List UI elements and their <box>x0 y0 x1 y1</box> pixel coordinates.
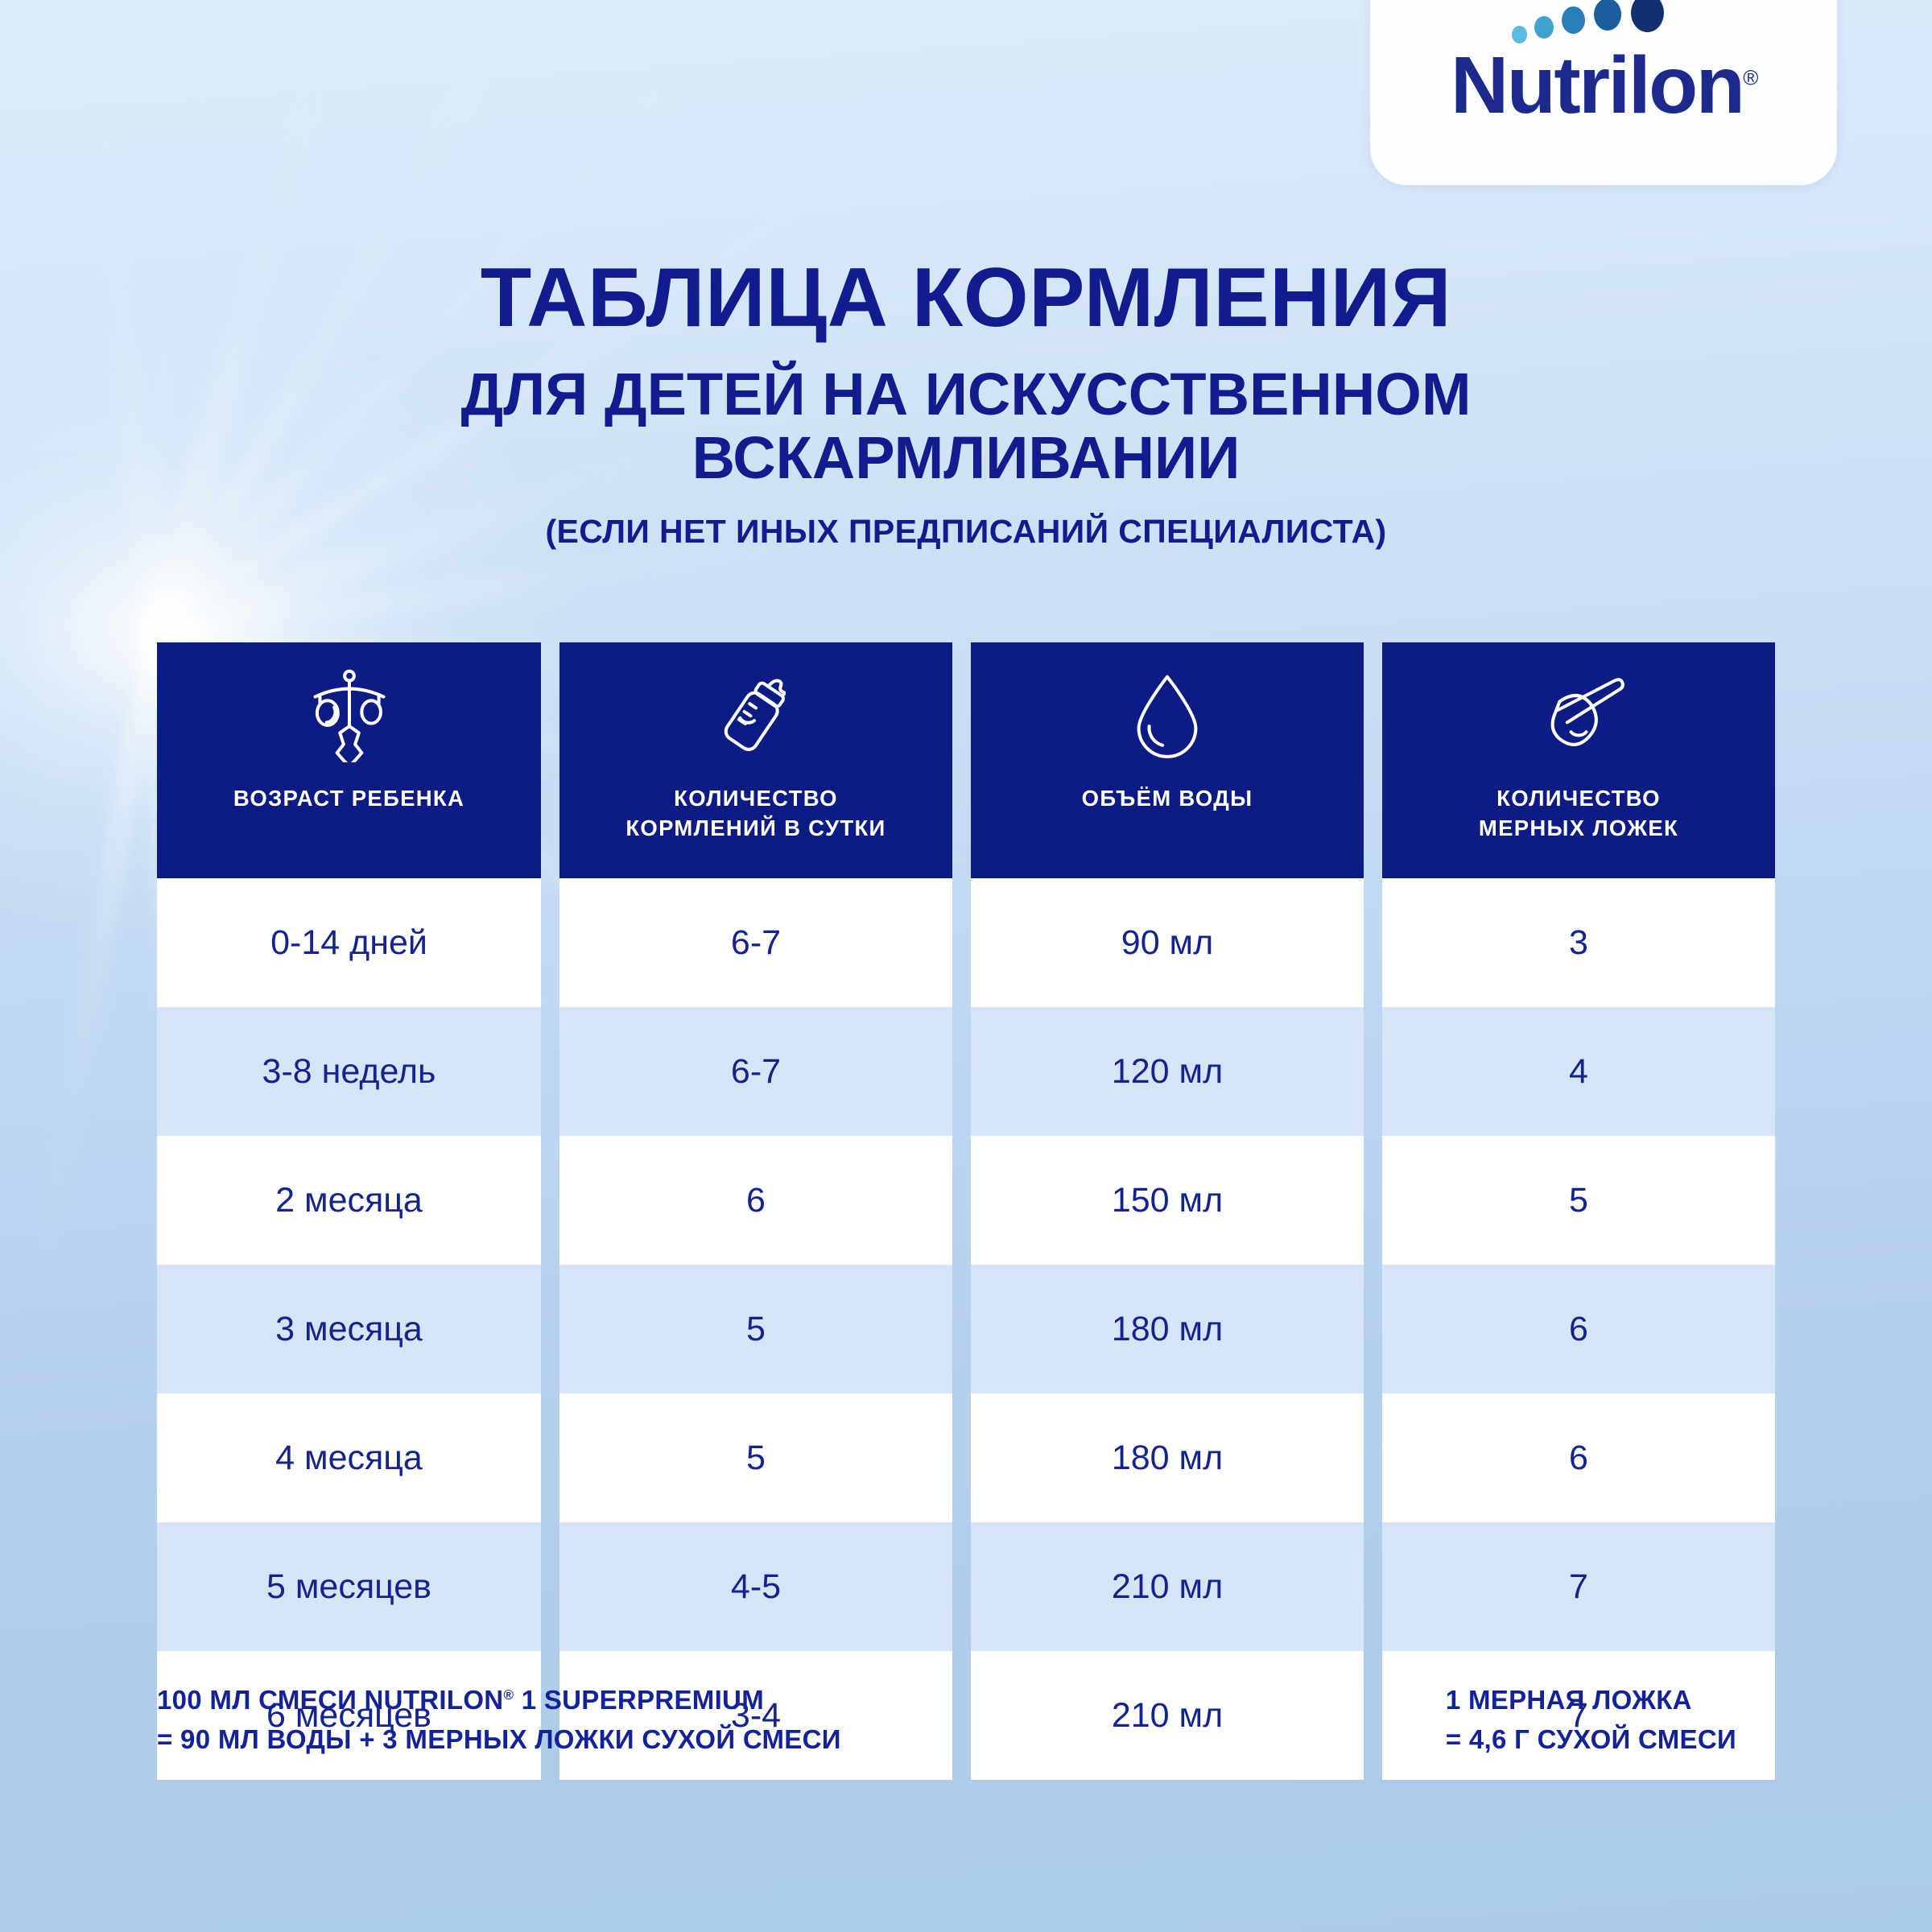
table-cell-age: 3 месяца <box>157 1265 541 1393</box>
column-gap <box>541 1393 559 1522</box>
table-cell-age: 4 месяца <box>157 1393 541 1522</box>
table-cell-age: 3-8 недель <box>157 1007 541 1136</box>
page-title: ТАБЛИЦА КОРМЛЕНИЯ <box>0 254 1932 341</box>
column-gap <box>1364 1265 1382 1393</box>
table-header-row: ВОЗРАСТ РЕБЕНКА КОЛИЧЕСТВОКОРМЛЕНИЙ В СУ… <box>157 642 1775 878</box>
header-label-line: ОБЪЁМ ВОДЫ <box>1082 784 1253 814</box>
table-cell-water: 90 мл <box>971 878 1364 1007</box>
table-cell-scoops: 6 <box>1382 1393 1775 1522</box>
column-gap <box>952 1265 971 1393</box>
brand-logo-card: Nutrilon® <box>1370 0 1837 185</box>
footer-note-right: 1 МЕРНАЯ ЛОЖКА = 4,6 Г СУХОЙ СМЕСИ <box>1446 1681 1775 1760</box>
table-header-cell-3: ОБЪЁМ ВОДЫ <box>971 642 1364 878</box>
table-cell-feedings: 4-5 <box>559 1522 952 1651</box>
brand-dot-1 <box>1512 26 1527 43</box>
footer-right-line1: 1 МЕРНАЯ ЛОЖКА <box>1446 1681 1736 1720</box>
table-cell-feedings: 6-7 <box>559 878 952 1007</box>
brand-name: Nutrilon <box>1451 40 1743 130</box>
footer-notes: 100 МЛ СМЕСИ NUTRILON® 1 SUPERPREMIUM = … <box>157 1681 1775 1760</box>
footer-note-left: 100 МЛ СМЕСИ NUTRILON® 1 SUPERPREMIUM = … <box>157 1681 841 1760</box>
header-label-line: МЕРНЫХ ЛОЖЕК <box>1479 814 1678 844</box>
table-cell-scoops: 5 <box>1382 1136 1775 1265</box>
table-row: 3-8 недель6-7120 мл4 <box>157 1007 1775 1136</box>
column-gap <box>1364 1007 1382 1136</box>
table-cell-age: 5 месяцев <box>157 1522 541 1651</box>
table-cell-water: 120 мл <box>971 1007 1364 1136</box>
table-header-cell-4: КОЛИЧЕСТВОМЕРНЫХ ЛОЖЕК <box>1382 642 1775 878</box>
baby-bottle-icon <box>708 670 803 760</box>
table-cell-water: 210 мл <box>971 1522 1364 1651</box>
table-row: 5 месяцев4-5210 мл7 <box>157 1522 1775 1651</box>
footer-left-reg-mark: ® <box>503 1687 514 1703</box>
column-gap <box>1364 878 1382 1007</box>
header-label-line: КОЛИЧЕСТВО <box>625 784 885 814</box>
brand-dot-2 <box>1534 16 1554 39</box>
brand-dot-5 <box>1631 0 1664 32</box>
table-cell-feedings: 5 <box>559 1265 952 1393</box>
column-gap <box>1364 642 1382 878</box>
table-cell-feedings: 5 <box>559 1393 952 1522</box>
page-note: (ЕСЛИ НЕТ ИНЫХ ПРЕДПИСАНИЙ СПЕЦИАЛИСТА) <box>0 513 1932 551</box>
table-header-cell-2: КОЛИЧЕСТВОКОРМЛЕНИЙ В СУТКИ <box>559 642 952 878</box>
footer-left-line1: 100 МЛ СМЕСИ NUTRILON® 1 SUPERPREMIUM <box>157 1681 841 1720</box>
column-gap <box>1364 1136 1382 1265</box>
table-cell-water: 180 мл <box>971 1265 1364 1393</box>
table-cell-age: 2 месяца <box>157 1136 541 1265</box>
table-row: 2 месяца6150 мл5 <box>157 1136 1775 1265</box>
column-gap <box>952 1136 971 1265</box>
header-label-line: КОЛИЧЕСТВО <box>1479 784 1678 814</box>
registered-mark: ® <box>1743 66 1757 90</box>
page-subtitle: ДЛЯ ДЕТЕЙ НА ИСКУССТВЕННОМ ВСКАРМЛИВАНИИ <box>378 362 1554 489</box>
table-cell-water: 180 мл <box>971 1393 1364 1522</box>
column-gap <box>952 642 971 878</box>
baby-mobile-icon <box>302 670 397 760</box>
table-cell-scoops: 6 <box>1382 1265 1775 1393</box>
table-header-label: ВОЗРАСТ РЕБЕНКА <box>225 784 473 814</box>
table-row: 4 месяца5180 мл6 <box>157 1393 1775 1522</box>
table-header-label: ОБЪЁМ ВОДЫ <box>1074 784 1261 814</box>
column-gap <box>541 1007 559 1136</box>
title-block: ТАБЛИЦА КОРМЛЕНИЯ ДЛЯ ДЕТЕЙ НА ИСКУССТВЕ… <box>0 254 1932 551</box>
table-header-label: КОЛИЧЕСТВОКОРМЛЕНИЙ В СУТКИ <box>617 784 894 844</box>
table-header-cell-1: ВОЗРАСТ РЕБЕНКА <box>157 642 541 878</box>
column-gap <box>541 642 559 878</box>
column-gap <box>541 878 559 1007</box>
table-cell-age: 0-14 дней <box>157 878 541 1007</box>
column-gap <box>1364 1393 1382 1522</box>
table-cell-scoops: 7 <box>1382 1522 1775 1651</box>
brand-dot-4 <box>1594 0 1621 31</box>
column-gap <box>541 1136 559 1265</box>
table-cell-scoops: 4 <box>1382 1007 1775 1136</box>
table-body: 0-14 дней6-790 мл33-8 недель6-7120 мл42 … <box>157 878 1775 1780</box>
column-gap <box>952 1393 971 1522</box>
feeding-table: ВОЗРАСТ РЕБЕНКА КОЛИЧЕСТВОКОРМЛЕНИЙ В СУ… <box>157 642 1775 1780</box>
footer-right-line2: = 4,6 Г СУХОЙ СМЕСИ <box>1446 1720 1736 1760</box>
table-cell-scoops: 3 <box>1382 878 1775 1007</box>
column-gap <box>952 1007 971 1136</box>
table-header-label: КОЛИЧЕСТВОМЕРНЫХ ЛОЖЕК <box>1471 784 1686 844</box>
header-label-line: КОРМЛЕНИЙ В СУТКИ <box>625 814 885 844</box>
footer-left-line1-b: 1 SUPERPREMIUM <box>514 1685 764 1715</box>
table-row: 0-14 дней6-790 мл3 <box>157 878 1775 1007</box>
brand-wordmark: Nutrilon® <box>1370 45 1837 126</box>
footer-left-line2: = 90 МЛ ВОДЫ + 3 МЕРНЫХ ЛОЖКИ СУХОЙ СМЕС… <box>157 1720 841 1760</box>
column-gap <box>952 1522 971 1651</box>
footer-left-line1-a: 100 МЛ СМЕСИ NUTRILON <box>157 1685 503 1715</box>
column-gap <box>1364 1522 1382 1651</box>
column-gap <box>541 1522 559 1651</box>
column-gap <box>952 878 971 1007</box>
column-gap <box>541 1265 559 1393</box>
water-drop-icon <box>1120 670 1215 760</box>
nutrilon-dots-icon <box>1483 0 1724 43</box>
table-cell-feedings: 6-7 <box>559 1007 952 1136</box>
brand-dot-3 <box>1562 6 1585 34</box>
measuring-scoop-icon <box>1531 670 1626 760</box>
header-label-line: ВОЗРАСТ РЕБЕНКА <box>233 784 464 814</box>
table-row: 3 месяца5180 мл6 <box>157 1265 1775 1393</box>
table-cell-water: 150 мл <box>971 1136 1364 1265</box>
table-cell-feedings: 6 <box>559 1136 952 1265</box>
